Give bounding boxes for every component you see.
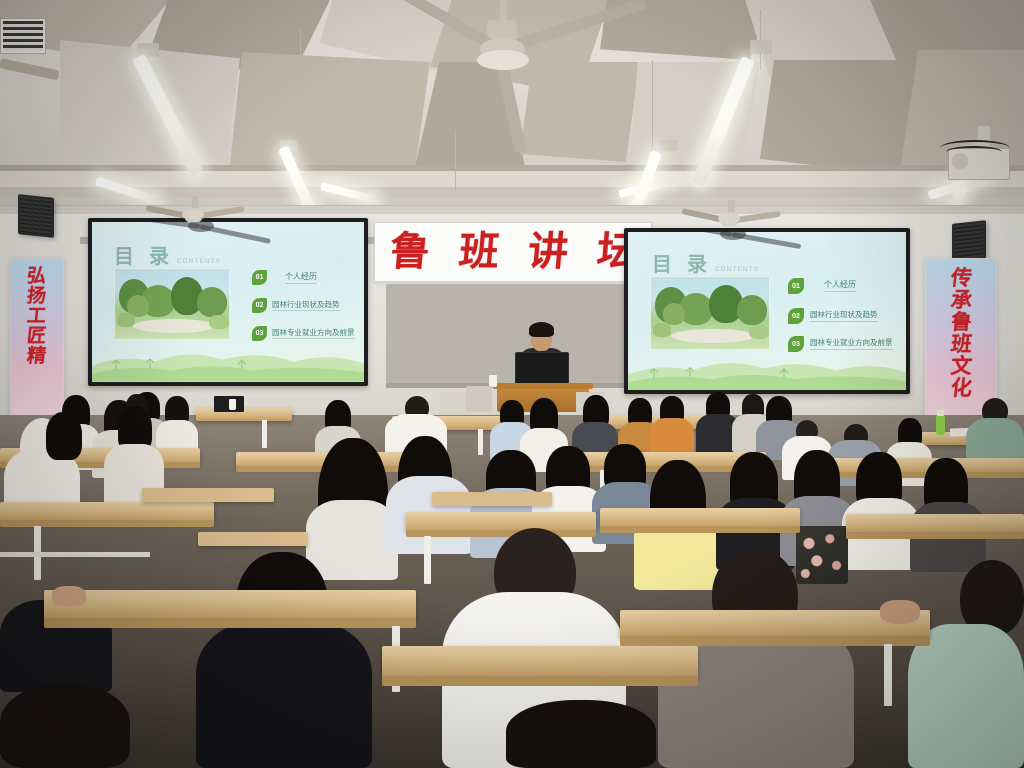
desk-row4 xyxy=(44,590,416,620)
hand xyxy=(880,600,920,624)
toc-item: 02 园林行业现状及趋势 xyxy=(788,308,898,324)
right-slide: 目 录 CONTENTS 01 个人经历 02 园林行业现状及趋势 xyxy=(628,232,906,390)
desk-row3 xyxy=(0,502,214,522)
right-banner-char-5: 文 xyxy=(949,355,972,376)
bottle-cap xyxy=(937,410,944,416)
leaf-badge-01: 01 xyxy=(788,278,804,294)
left-standee: 弘 扬 工 匠 精 xyxy=(10,258,64,438)
ceiling-coffer xyxy=(60,40,240,170)
toc-label-02: 园林行业现状及趋势 xyxy=(810,310,878,321)
desk-leg xyxy=(262,420,267,448)
ceiling-coffer xyxy=(520,62,640,162)
right-banner-char-6: 化 xyxy=(949,377,972,398)
left-slide: 目 录 CONTENTS 01 个人经历 02 园林行业现状 xyxy=(92,222,364,382)
leaf-badge-02: 02 xyxy=(788,308,804,324)
left-banner-char-3: 工 xyxy=(26,307,47,326)
bench xyxy=(142,488,274,502)
grass-graphic xyxy=(628,349,906,390)
right-banner-char-2: 承 xyxy=(949,289,972,310)
right-banner-char-3: 鲁 xyxy=(949,311,972,332)
right-banner-char-1: 传 xyxy=(949,267,972,288)
toc-label-03: 园林专业就业方向及前景 xyxy=(810,338,893,349)
paper-cup xyxy=(229,399,236,410)
slide-photo xyxy=(114,268,230,340)
ceiling-fan-blade xyxy=(0,58,60,80)
ceiling-beam xyxy=(0,171,1024,187)
main-hall-banner: 鲁 班 讲 坛 xyxy=(374,222,652,282)
left-banner-char-5: 精 xyxy=(26,347,47,366)
left-projection-screen: 目 录 CONTENTS 01 个人经历 02 园林行业现状 xyxy=(88,218,368,386)
toc-label-02: 园林行业现状及趋势 xyxy=(272,300,340,311)
light-mount xyxy=(750,40,772,54)
ceiling xyxy=(0,0,1024,215)
left-banner-char-1: 弘 xyxy=(26,267,47,286)
light-mount xyxy=(660,140,678,151)
leaf-badge-03: 03 xyxy=(252,326,267,341)
right-banner-char-4: 班 xyxy=(949,333,972,354)
slide-title-en: CONTENTS xyxy=(715,267,759,273)
desk-row4 xyxy=(382,646,698,678)
front-equipment xyxy=(466,386,492,412)
leaf-badge-02: 02 xyxy=(252,298,267,313)
desk-row3 xyxy=(600,508,800,528)
ceiling-coffer xyxy=(230,52,430,177)
toc-item: 01 个人经历 xyxy=(788,278,898,294)
wall-speaker-right xyxy=(952,220,986,262)
banner-char-1: 鲁 xyxy=(388,232,431,272)
toc-label-01: 个人经历 xyxy=(824,280,856,292)
desk-row3 xyxy=(406,512,596,532)
desk-row1 xyxy=(196,408,292,421)
bench xyxy=(198,532,308,546)
grass-graphic xyxy=(92,340,364,382)
slide-title-cn: 目 录 xyxy=(114,240,173,269)
podium-top xyxy=(493,383,593,389)
right-projection-screen: 目 录 CONTENTS 01 个人经历 02 园林行业现状及趋势 xyxy=(624,228,910,394)
slide-photo xyxy=(650,276,770,350)
leaf-badge-01: 01 xyxy=(252,270,267,285)
banner-char-2: 班 xyxy=(457,232,500,272)
toc-item: 03 园林专业就业方向及前景 xyxy=(252,326,356,341)
toc-item: 02 园林行业现状及趋势 xyxy=(252,298,356,313)
desk-leg xyxy=(478,429,483,455)
classroom-scene: 鲁 班 讲 坛 目 录 CONTENTS xyxy=(0,0,1024,768)
floral-handbag xyxy=(796,526,848,584)
toc-label-01: 个人经历 xyxy=(285,272,317,284)
blackboard xyxy=(386,284,640,386)
left-banner-char-2: 扬 xyxy=(26,287,47,306)
green-water-bottle xyxy=(936,415,945,435)
hand xyxy=(52,586,86,606)
toc-label-03: 园林专业就业方向及前景 xyxy=(272,328,355,339)
desk-leg xyxy=(424,536,431,584)
wall-speaker-left xyxy=(18,194,54,238)
slide-title-en: CONTENTS xyxy=(177,259,221,265)
toc-item: 03 园林专业就业方向及前景 xyxy=(788,336,898,352)
slide-title-cn: 目 录 xyxy=(652,248,711,277)
toc-item: 01 个人经历 xyxy=(252,270,356,285)
air-vent xyxy=(0,18,46,54)
left-banner-char-4: 匠 xyxy=(26,327,47,346)
podium-monitor xyxy=(515,352,569,384)
desk-leg xyxy=(884,644,892,706)
leaf-badge-03: 03 xyxy=(788,336,804,352)
banner-char-3: 讲 xyxy=(526,232,569,272)
bench xyxy=(432,492,552,506)
desk-row3 xyxy=(846,514,1024,534)
